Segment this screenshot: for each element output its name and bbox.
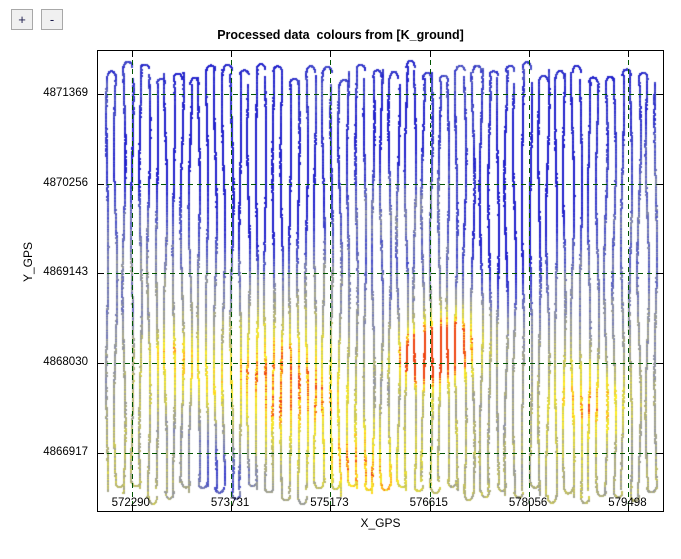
chart-area: Processed data colours from [K_ground] 4… bbox=[0, 20, 681, 559]
application-window: + - Processed data colours from [K_groun… bbox=[0, 0, 681, 559]
x-tick-label: 576615 bbox=[410, 497, 448, 509]
x-tick-label: 573731 bbox=[211, 497, 249, 509]
x-axis-title: X_GPS bbox=[97, 516, 664, 530]
y-tick-label: 4871369 bbox=[43, 87, 88, 99]
plot-frame[interactable] bbox=[97, 50, 664, 512]
x-tick-label: 578056 bbox=[509, 497, 547, 509]
y-tick-label: 4869143 bbox=[43, 266, 88, 278]
y-tick-label: 4868030 bbox=[43, 356, 88, 368]
scatter-plot-canvas[interactable] bbox=[98, 51, 663, 511]
x-axis-tick-labels: 572290573731575173576615578056579498 bbox=[0, 497, 681, 517]
y-tick-label: 4870256 bbox=[43, 177, 88, 189]
chart-title: Processed data colours from [K_ground] bbox=[0, 28, 681, 42]
x-tick-label: 575173 bbox=[310, 497, 348, 509]
y-tick-label: 4866917 bbox=[43, 446, 88, 458]
y-axis-title: Y_GPS bbox=[21, 222, 35, 302]
x-tick-label: 579498 bbox=[608, 497, 646, 509]
y-axis-tick-labels: 48669174868030486914348702564871369 bbox=[0, 20, 88, 559]
x-tick-label: 572290 bbox=[112, 497, 150, 509]
